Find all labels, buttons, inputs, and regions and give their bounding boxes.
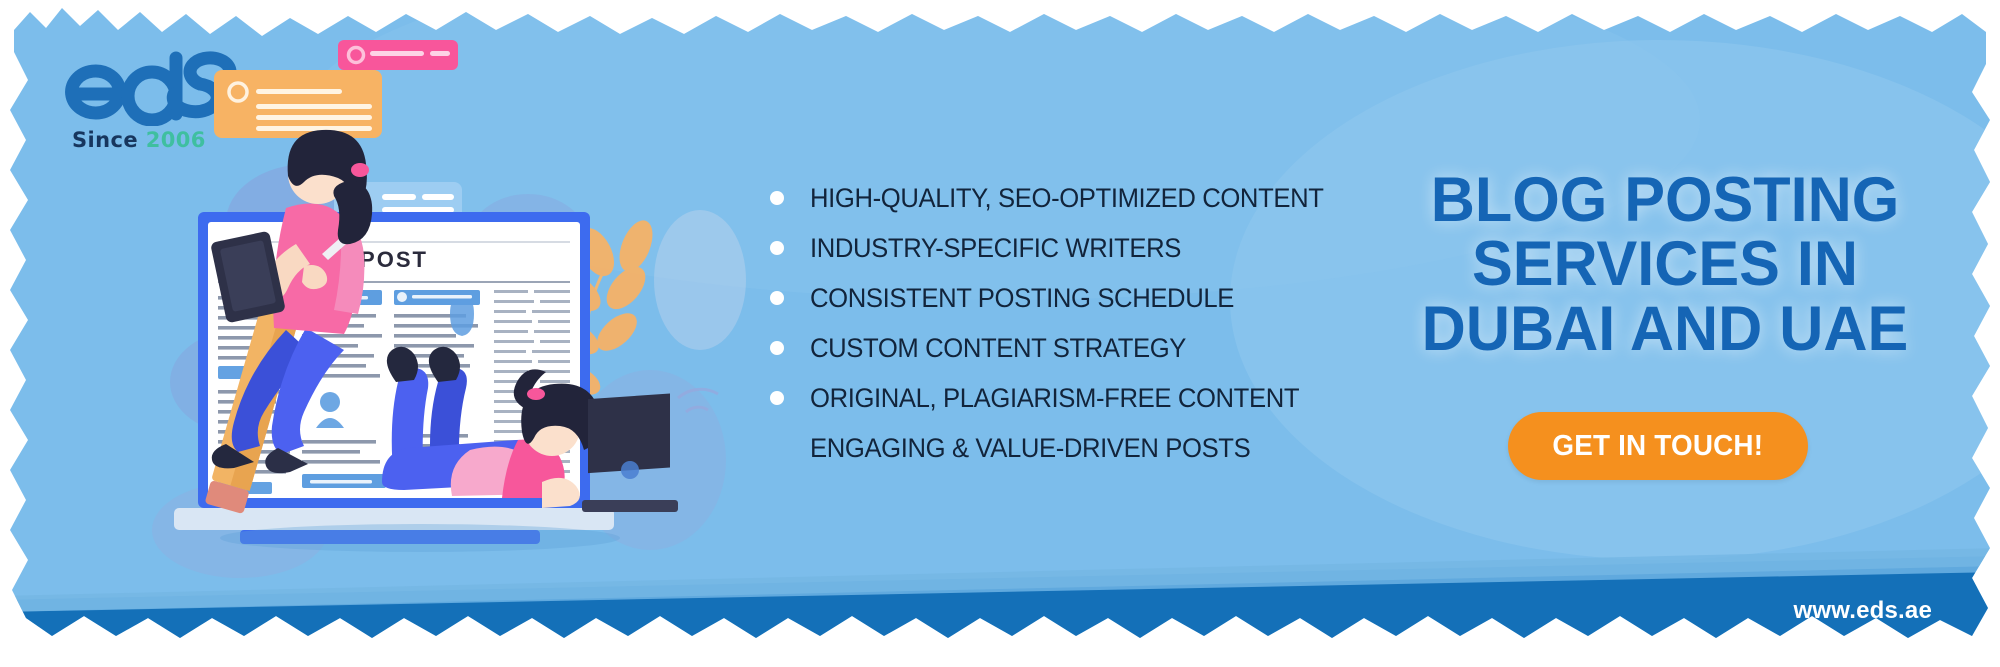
bullet-icon [770, 291, 784, 305]
article-title: POST [360, 247, 428, 272]
headline-line-3: DUBAI AND UAE [1379, 297, 1951, 361]
bullet-icon [770, 241, 784, 255]
feature-label: ENGAGING & VALUE-DRIVEN POSTS [810, 433, 1250, 464]
feature-list: HIGH-QUALITY, SEO-OPTIMIZED CONTENT INDU… [770, 180, 1370, 480]
list-item: ORIGINAL, PLAGIARISM-FREE CONTENT [770, 380, 1370, 416]
orange-message-card [214, 70, 382, 138]
feature-label: HIGH-QUALITY, SEO-OPTIMIZED CONTENT [810, 183, 1324, 214]
feature-label: INDUSTRY-SPECIFIC WRITERS [810, 233, 1181, 264]
list-item: CONSISTENT POSTING SCHEDULE [770, 280, 1370, 316]
feature-label: ORIGINAL, PLAGIARISM-FREE CONTENT [810, 383, 1299, 414]
illustration-svg: POST [90, 30, 770, 630]
get-in-touch-button[interactable]: GET IN TOUCH! [1508, 412, 1808, 480]
list-item: INDUSTRY-SPECIFIC WRITERS [770, 230, 1370, 266]
blogging-illustration: POST [90, 30, 770, 630]
bullet-icon [770, 441, 784, 455]
bullet-icon [770, 391, 784, 405]
feature-label: CONSISTENT POSTING SCHEDULE [810, 283, 1234, 314]
list-item: HIGH-QUALITY, SEO-OPTIMIZED CONTENT [770, 180, 1370, 216]
website-url[interactable]: www.eds.ae [1794, 597, 1933, 625]
bullet-icon [770, 341, 784, 355]
promotional-banner: Since 2006 [0, 0, 2000, 667]
list-item: ENGAGING & VALUE-DRIVEN POSTS [770, 430, 1370, 466]
pink-notification-card [338, 40, 458, 70]
bullet-icon [770, 191, 784, 205]
page-title: BLOG POSTING SERVICES IN DUBAI AND UAE [1370, 168, 1960, 361]
headline-line-1: BLOG POSTING [1379, 168, 1951, 232]
list-item: CUSTOM CONTENT STRATEGY [770, 330, 1370, 366]
cta-label: GET IN TOUCH! [1553, 430, 1764, 463]
headline-line-2: SERVICES IN [1379, 232, 1951, 296]
feature-label: CUSTOM CONTENT STRATEGY [810, 333, 1186, 364]
